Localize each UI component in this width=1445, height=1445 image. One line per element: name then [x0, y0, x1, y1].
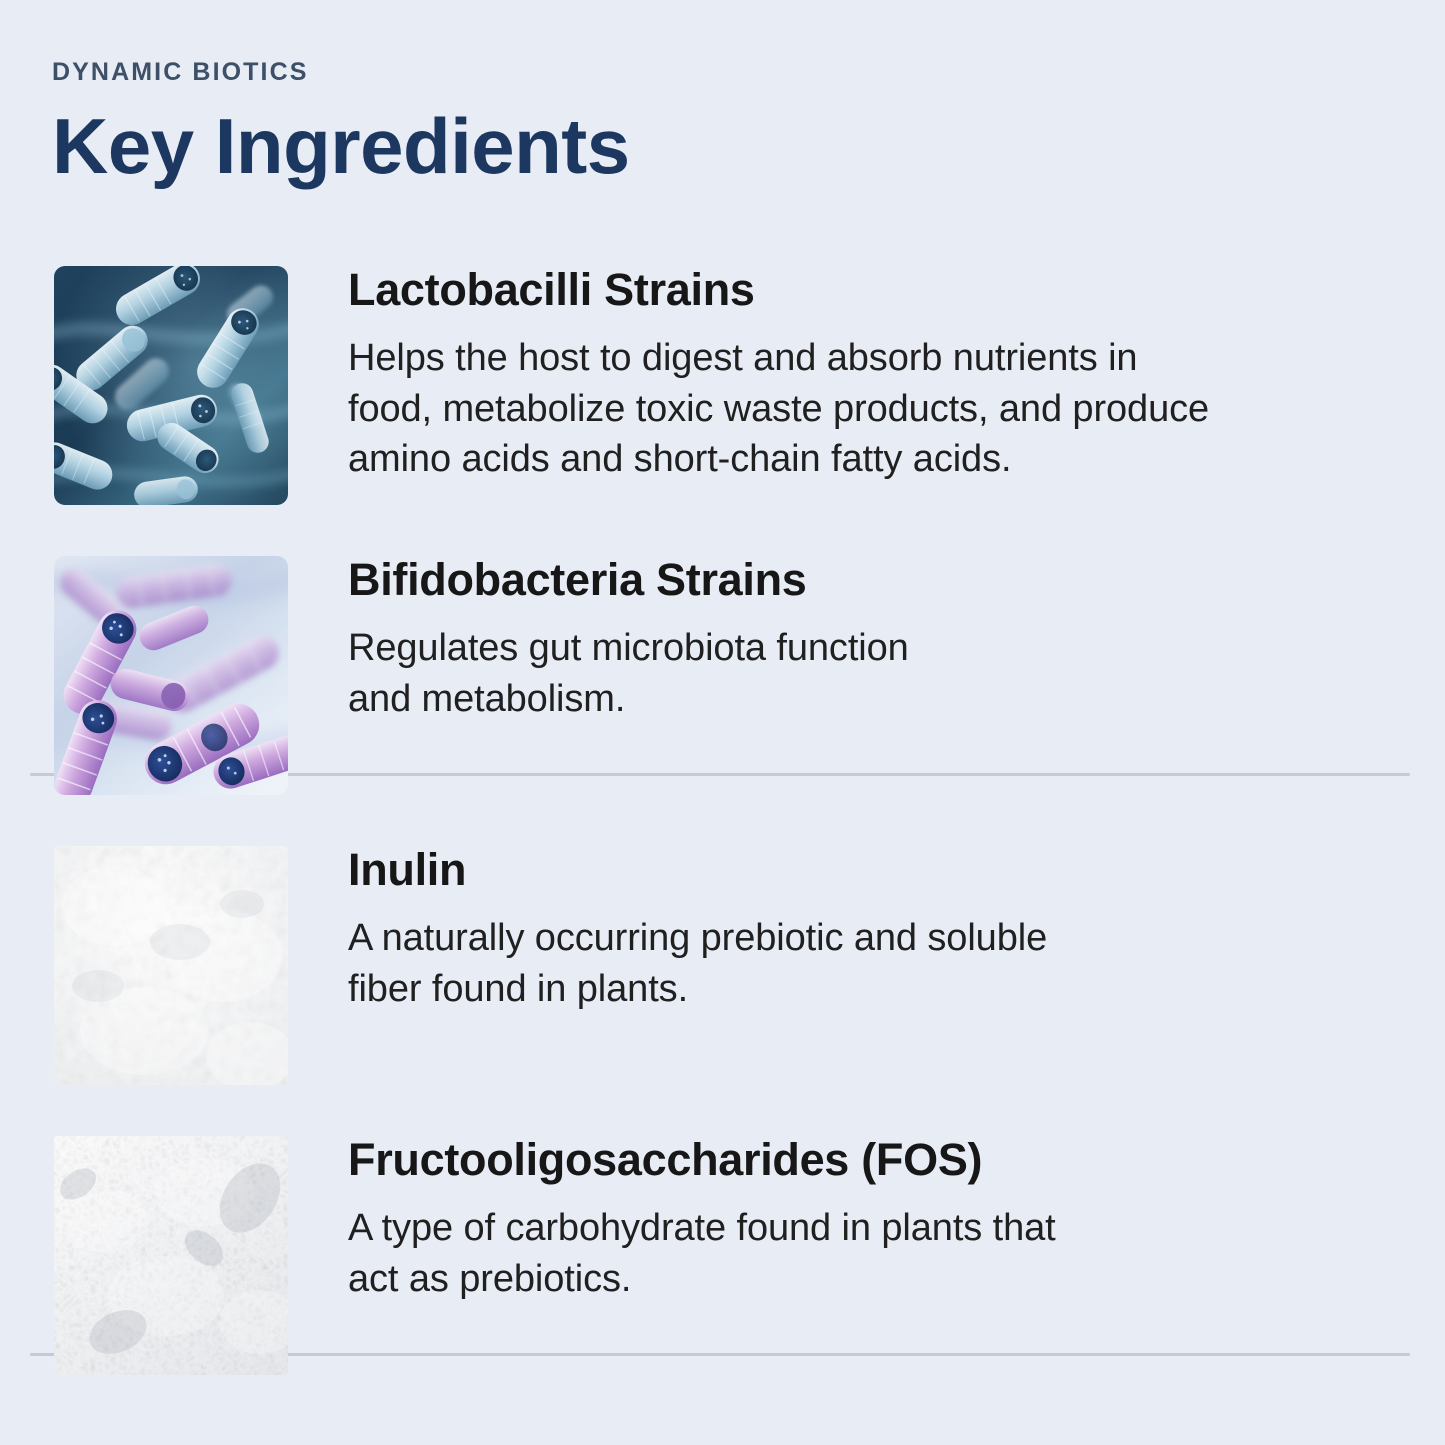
ingredient-title: Bifidobacteria Strains	[348, 555, 909, 605]
inulin-thumbnail	[54, 846, 288, 1085]
page-title: Key Ingredients	[52, 107, 630, 185]
ingredient-text-block: Bifidobacteria Strains Regulates gut mic…	[348, 533, 909, 724]
ingredient-title: Lactobacilli Strains	[348, 265, 1209, 315]
bifidobacteria-thumbnail	[54, 556, 288, 795]
header: DYNAMIC BIOTICS Key Ingredients	[52, 60, 630, 185]
ingredient-description: Regulates gut microbiota function and me…	[348, 623, 909, 724]
ingredient-list: Lactobacilli Strains Helps the host to d…	[0, 243, 1445, 1403]
list-item: Bifidobacteria Strains Regulates gut mic…	[0, 533, 1445, 823]
ingredient-text-block: Fructooligosaccharides (FOS) A type of c…	[348, 1113, 1056, 1304]
ingredient-description: A naturally occurring prebiotic and solu…	[348, 913, 1047, 1014]
fos-thumbnail	[54, 1136, 288, 1375]
list-item: Lactobacilli Strains Helps the host to d…	[0, 243, 1445, 533]
lactobacilli-thumbnail	[54, 266, 288, 505]
ingredient-title: Inulin	[348, 845, 1047, 895]
ingredient-description: A type of carbohydrate found in plants t…	[348, 1203, 1056, 1304]
ingredient-text-block: Lactobacilli Strains Helps the host to d…	[348, 243, 1209, 485]
list-item: Inulin A naturally occurring prebiotic a…	[0, 823, 1445, 1113]
list-item: Fructooligosaccharides (FOS) A type of c…	[0, 1113, 1445, 1403]
brand-eyebrow: DYNAMIC BIOTICS	[52, 60, 630, 85]
ingredient-description: Helps the host to digest and absorb nutr…	[348, 333, 1209, 485]
ingredient-title: Fructooligosaccharides (FOS)	[348, 1135, 1056, 1185]
ingredient-text-block: Inulin A naturally occurring prebiotic a…	[348, 823, 1047, 1014]
key-ingredients-infographic: DYNAMIC BIOTICS Key Ingredients	[0, 0, 1445, 1445]
